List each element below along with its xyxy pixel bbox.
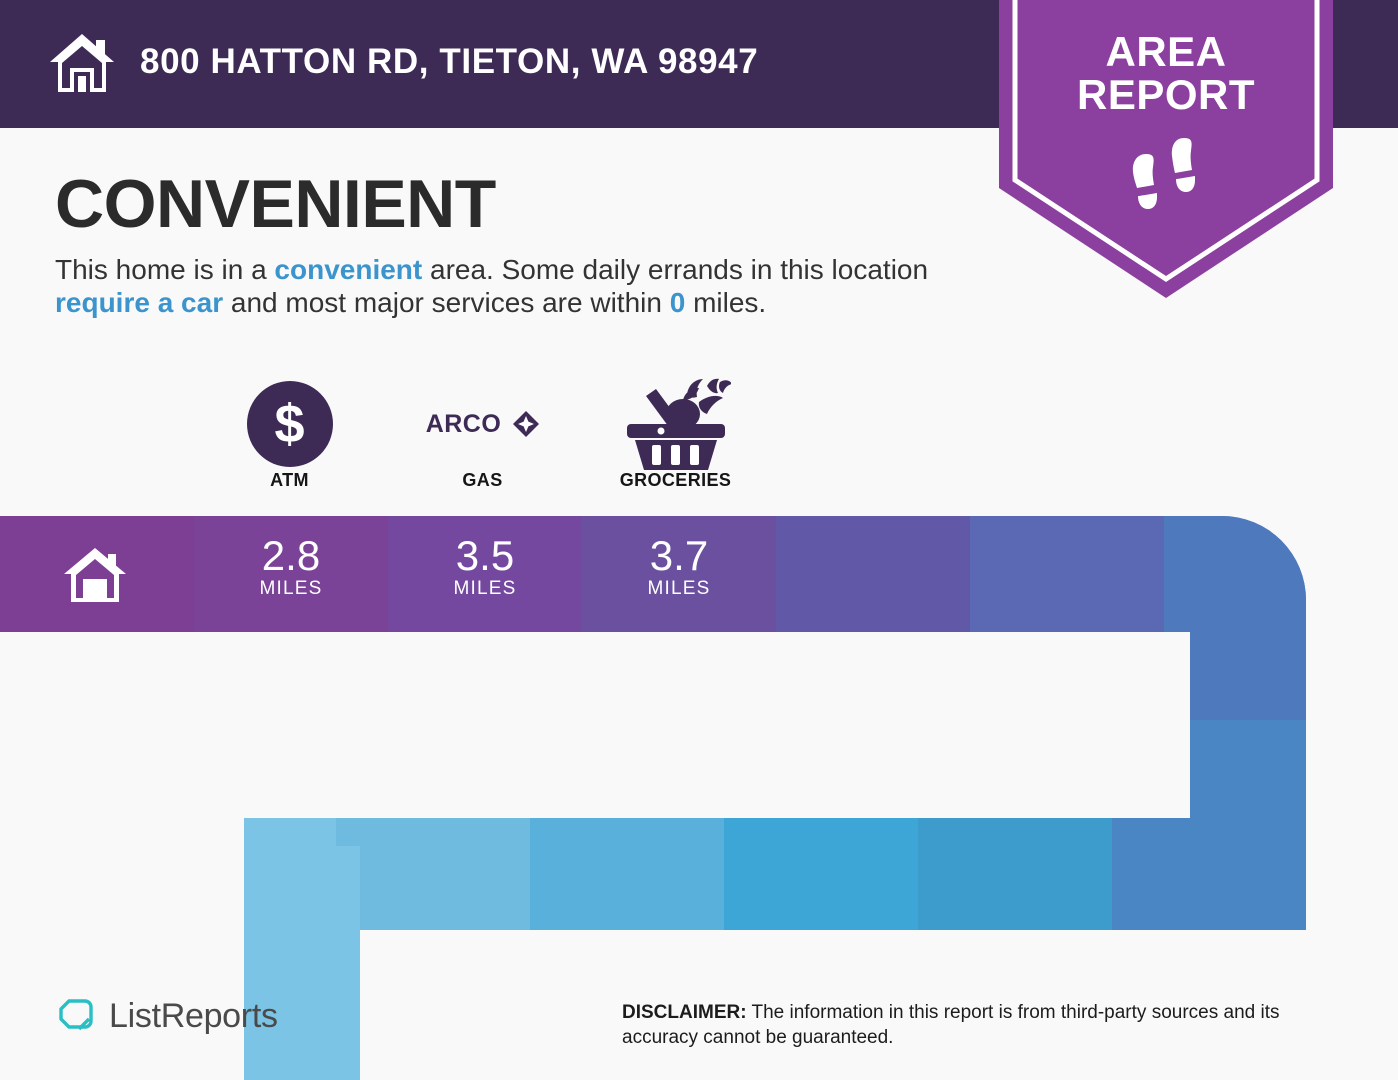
track-segment-5 <box>970 510 1164 638</box>
track-segment-9 <box>1112 815 1312 935</box>
track-segment-13 <box>336 815 530 935</box>
track-segment-1 <box>194 510 388 638</box>
disclaimer-label: DISCLAIMER: <box>622 1002 747 1023</box>
track-segment-home <box>0 510 194 638</box>
listreports-brand: ListReports <box>55 995 278 1037</box>
listreports-logo-icon <box>55 995 97 1037</box>
brand-name: ListReports <box>109 997 278 1036</box>
track-row-top <box>0 510 1358 638</box>
area-report-page: 800 HATTON RD, TIETON, WA 98947 AREA REP… <box>0 0 1398 1080</box>
distance-track <box>0 0 1398 1080</box>
track-segment-10 <box>918 815 1112 935</box>
track-segment-12 <box>530 815 724 935</box>
track-segment-3 <box>582 510 776 638</box>
track-segment-4 <box>776 510 970 638</box>
track-row-bottom <box>240 815 1312 935</box>
track-segment-7 <box>1164 510 1364 720</box>
track-segment-2 <box>388 510 582 638</box>
disclaimer: DISCLAIMER: The information in this repo… <box>622 1000 1342 1050</box>
track-segment-11 <box>724 815 918 935</box>
